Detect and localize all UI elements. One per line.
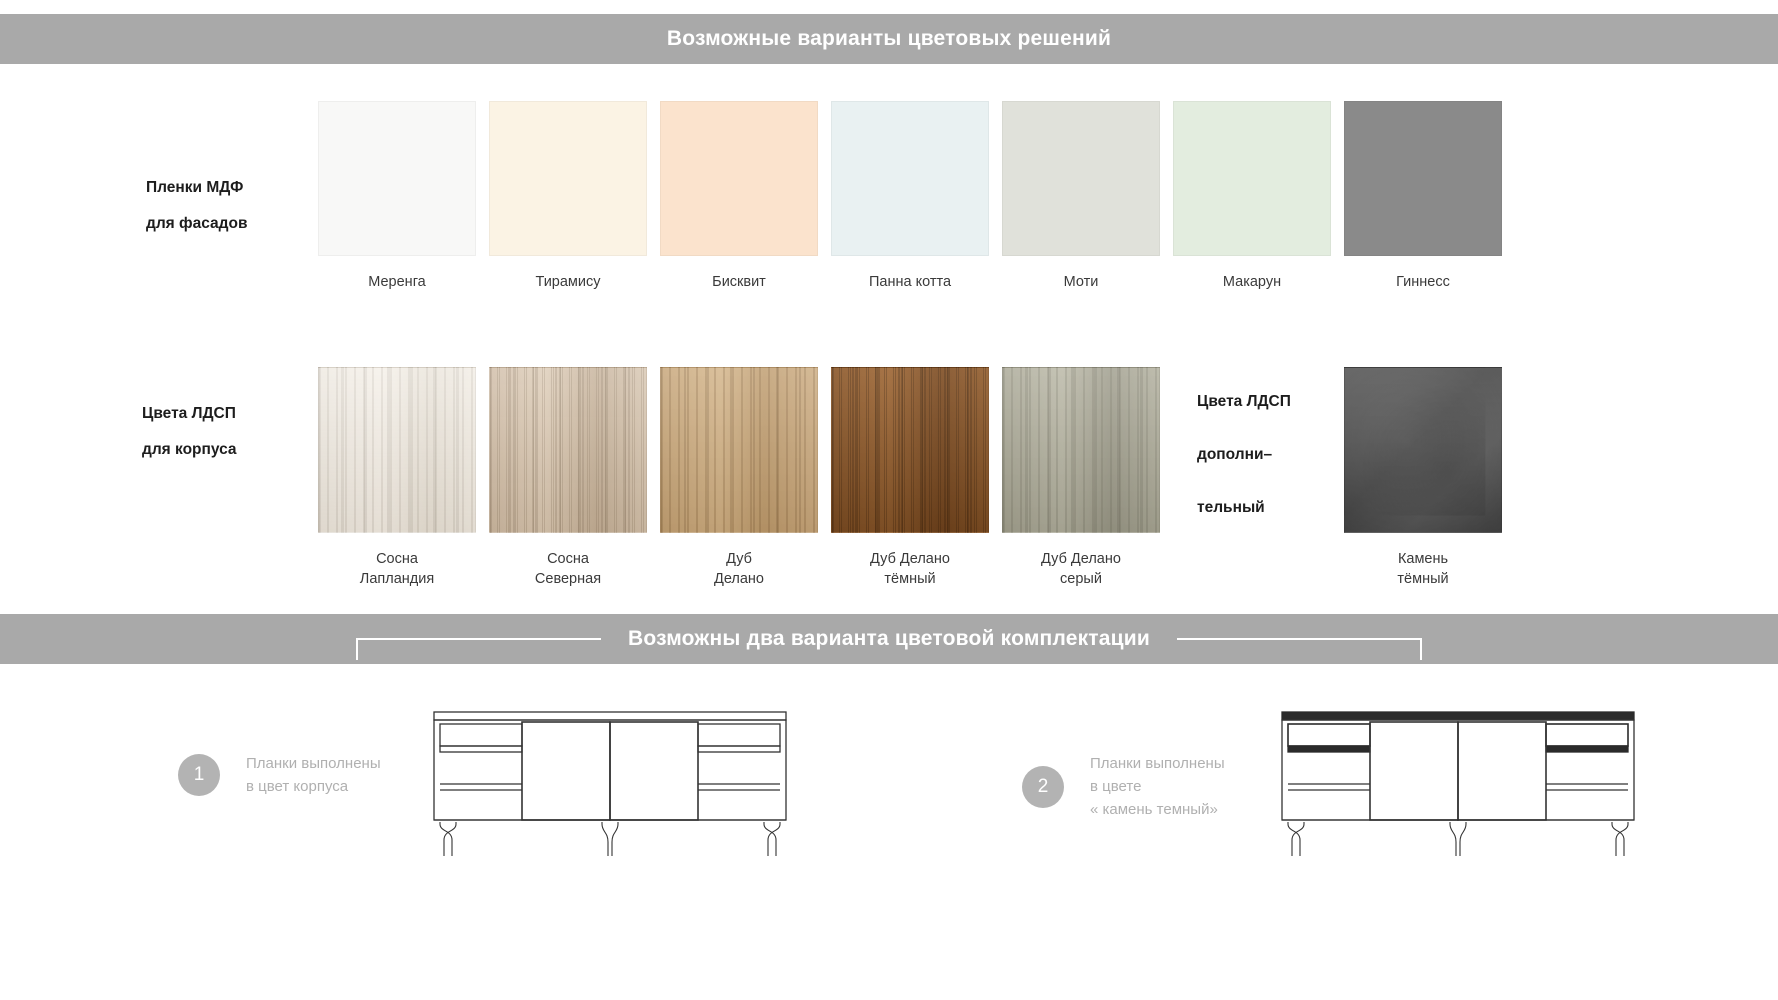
- swatch-label-dub-delano-sery: Дуб Делано серый: [1002, 549, 1160, 589]
- mdf-swatch-row: Меренга Тирамису Бисквит Панна котта Мот…: [318, 101, 1502, 292]
- ldsp-section-label: Цвета ЛДСП для корпуса: [142, 396, 237, 468]
- swatch-cell-tiramisu[interactable]: Тирамису: [489, 101, 647, 292]
- swatch-ginness[interactable]: [1344, 101, 1502, 256]
- bottom-banner: Возможны два варианта цветовой комплекта…: [0, 614, 1778, 664]
- swatch-label-ginness: Гиннесс: [1344, 272, 1502, 292]
- ldsp-swatch-row: Сосна Лапландия Сосна Северная Дуб Делан…: [318, 367, 1502, 589]
- swatch-cell-ginness[interactable]: Гиннесс: [1344, 101, 1502, 292]
- variant-1-text: Планки выполнены в цвет корпуса: [246, 752, 381, 798]
- swatch-label-moti: Моти: [1002, 272, 1160, 292]
- variant-2-badge: 2: [1022, 766, 1064, 808]
- swatch-sosna-severnaya[interactable]: [489, 367, 647, 533]
- bracket-right-decoration: [1177, 638, 1422, 660]
- swatch-dub-delano-temny[interactable]: [831, 367, 989, 533]
- swatch-makarun[interactable]: [1173, 101, 1331, 256]
- swatch-biskvit[interactable]: [660, 101, 818, 256]
- swatch-cell-dub-delano[interactable]: Дуб Делано: [660, 367, 818, 589]
- ldsp-row-spacer: [1173, 367, 1331, 589]
- swatch-sosna-laplandiya[interactable]: [318, 367, 476, 533]
- swatch-label-sosna-severnaya: Сосна Северная: [489, 549, 647, 589]
- swatch-cell-panna-kotta[interactable]: Панна котта: [831, 101, 989, 292]
- mdf-label-line1: Пленки МДФ: [146, 170, 247, 206]
- swatch-label-merenga: Меренга: [318, 272, 476, 292]
- top-banner-title: Возможные варианты цветовых решений: [667, 27, 1111, 51]
- mdf-section-label: Пленки МДФ для фасадов: [146, 170, 247, 242]
- swatch-kamen-temny[interactable]: [1344, 367, 1502, 533]
- swatch-tiramisu[interactable]: [489, 101, 647, 256]
- swatch-dub-delano-sery[interactable]: [1002, 367, 1160, 533]
- variant-1: 1 Планки выполнены в цвет корпуса: [178, 752, 381, 798]
- bracket-left-decoration: [356, 638, 601, 660]
- swatch-cell-sosna-severnaya[interactable]: Сосна Северная: [489, 367, 647, 589]
- swatch-label-makarun: Макарун: [1173, 272, 1331, 292]
- variant-2-text: Планки выполнены в цвете « камень темный…: [1090, 752, 1225, 821]
- ldsp-label-line1: Цвета ЛДСП: [142, 396, 237, 432]
- swatch-label-tiramisu: Тирамису: [489, 272, 647, 292]
- swatch-label-dub-delano: Дуб Делано: [660, 549, 818, 589]
- swatch-cell-makarun[interactable]: Макарун: [1173, 101, 1331, 292]
- swatch-cell-sosna-laplandiya[interactable]: Сосна Лапландия: [318, 367, 476, 589]
- swatch-cell-dub-delano-temny[interactable]: Дуб Делано тёмный: [831, 367, 989, 589]
- bottom-banner-title: Возможны два варианта цветовой комплекта…: [628, 627, 1150, 651]
- swatch-label-dub-delano-temny: Дуб Делано тёмный: [831, 549, 989, 589]
- ldsp-label-line2: для корпуса: [142, 432, 237, 468]
- swatch-cell-dub-delano-sery[interactable]: Дуб Делано серый: [1002, 367, 1160, 589]
- variant-2: 2 Планки выполнены в цвете « камень темн…: [1022, 752, 1225, 821]
- mdf-label-line2: для фасадов: [146, 206, 247, 242]
- swatch-cell-merenga[interactable]: Меренга: [318, 101, 476, 292]
- swatch-label-panna-kotta: Панна котта: [831, 272, 989, 292]
- swatch-cell-kamen-temny[interactable]: Камень тёмный: [1344, 367, 1502, 589]
- swatch-label-sosna-laplandiya: Сосна Лапландия: [318, 549, 476, 589]
- swatch-panna-kotta[interactable]: [831, 101, 989, 256]
- swatch-cell-biskvit[interactable]: Бисквит: [660, 101, 818, 292]
- variant-1-badge: 1: [178, 754, 220, 796]
- swatch-moti[interactable]: [1002, 101, 1160, 256]
- sideboard-drawing-variant-2: [1278, 700, 1638, 860]
- color-options-page: Возможные варианты цветовых решений Плен…: [0, 0, 1778, 1000]
- swatch-cell-moti[interactable]: Моти: [1002, 101, 1160, 292]
- swatch-merenga[interactable]: [318, 101, 476, 256]
- swatch-dub-delano[interactable]: [660, 367, 818, 533]
- swatch-label-biskvit: Бисквит: [660, 272, 818, 292]
- sideboard-drawing-variant-1: [430, 700, 790, 860]
- swatch-label-kamen-temny: Камень тёмный: [1344, 549, 1502, 589]
- top-banner: Возможные варианты цветовых решений: [0, 14, 1778, 64]
